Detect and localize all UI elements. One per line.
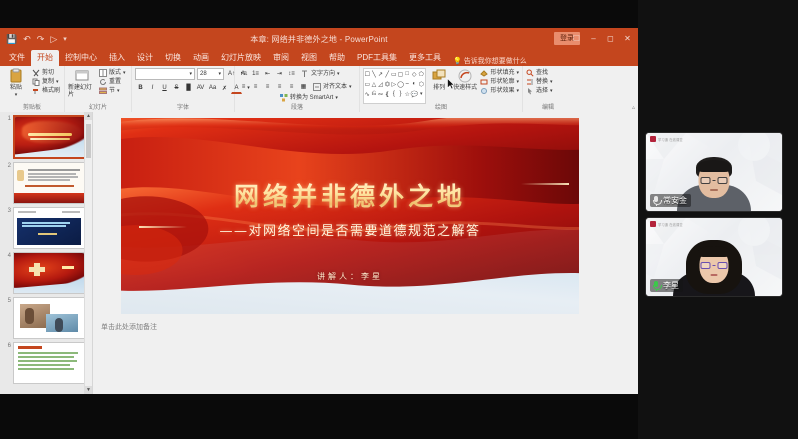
slide-title[interactable]: 网络并非德外之地 [121, 177, 579, 213]
bold-icon[interactable]: B [135, 83, 146, 94]
shape-effects-dropdown-icon[interactable]: ▾ [516, 87, 519, 95]
font-size-chevron-down-icon[interactable]: ▾ [218, 71, 221, 77]
thumbnail-number: 2 [2, 162, 13, 169]
shape-brace2-icon[interactable]: } [399, 91, 401, 97]
shape-fill-label: 形状填充 [490, 69, 514, 77]
reset-label: 重置 [109, 78, 121, 86]
undo-icon[interactable]: ↶ [23, 34, 31, 45]
line-spacing-icon[interactable]: ↕≡ [286, 68, 297, 79]
quick-styles-label: 快速样式 [453, 85, 477, 92]
shape-bracket-icon[interactable]: ❴ [385, 91, 390, 98]
shape-outline-button[interactable]: 形状轮廓 ▾ [480, 78, 519, 86]
participant-name-badge-1: 常安金 [650, 194, 691, 207]
shadow-icon[interactable]: █ [183, 83, 194, 94]
replace-icon [526, 78, 534, 86]
replace-dropdown-icon[interactable]: ▾ [550, 78, 553, 86]
tab-file[interactable]: 文件 [3, 50, 31, 66]
group-drawing-label: 绘图 [363, 104, 519, 112]
restore-button[interactable]: ◻ [602, 28, 619, 50]
change-case-icon[interactable]: Aa [207, 83, 218, 94]
thumbnail-slide-2[interactable] [13, 162, 85, 204]
minimize-button[interactable]: – [585, 28, 602, 50]
tab-help[interactable]: 帮助 [323, 50, 351, 66]
slide-subtitle[interactable]: ——对网络空间是否需要道德规范之解答 [121, 220, 579, 239]
ribbon-display-options-icon[interactable]: ☐ [568, 28, 585, 50]
tell-me-search[interactable]: 💡 告诉我你想要做什么 [447, 56, 527, 66]
font-size-value: 28 [200, 71, 207, 77]
glasses-icon [701, 177, 728, 184]
shape-effects-button[interactable]: 形状效果 ▾ [480, 87, 519, 95]
layout-button[interactable]: 版式 ▾ [99, 69, 126, 77]
copy-dropdown-icon[interactable]: ▾ [56, 78, 59, 86]
shape-roundrect-icon[interactable]: ▢ [398, 71, 404, 78]
group-slides-label: 幻灯片 [68, 104, 128, 112]
thumbnail-row-6[interactable]: 6 [0, 339, 92, 384]
quick-styles-button[interactable]: 快速样式 [453, 68, 478, 92]
shape-hexagon-icon[interactable]: ⬡ [419, 81, 424, 88]
participant-name-badge-2: 李星 [650, 279, 683, 292]
thumbnail-row-2[interactable]: 2 [0, 159, 92, 204]
search-icon [526, 69, 534, 77]
tell-me-label: 告诉我你想要做什么 [464, 56, 527, 66]
ribbon-body: 粘贴 ▾ 剪切 复制 ▾ [0, 66, 638, 113]
copy-label: 复制 [42, 78, 54, 86]
redo-icon[interactable]: ↷ [37, 34, 45, 45]
work-area: 1 2 [0, 112, 638, 394]
strikethrough-icon[interactable]: S [171, 83, 182, 94]
group-paragraph: •≡ 1≡ ⇤ ⇥ ↕≡ 文字方向 ▾ ≡ ≡ ≡ [235, 66, 360, 112]
shape-rect-icon[interactable]: ▭ [391, 71, 397, 78]
tab-design[interactable]: 设计 [131, 50, 159, 66]
group-clipboard-label: 剪贴板 [3, 104, 61, 112]
smartart-dropdown-icon[interactable]: ▾ [335, 94, 338, 102]
align-text-icon [313, 83, 321, 91]
shape-brace-icon[interactable]: { [393, 91, 395, 97]
shape-fill-dropdown-icon[interactable]: ▾ [516, 69, 519, 77]
new-slide-button[interactable]: 新建幻灯片 [68, 68, 96, 99]
current-slide[interactable]: 网络并非德外之地 ——对网络空间是否需要道德规范之解答 讲解人：李星 [121, 118, 579, 314]
clear-format-icon[interactable]: ✗ [219, 83, 230, 94]
shape-triangle-icon[interactable]: △ [372, 81, 377, 88]
align-text-dropdown-icon[interactable]: ▾ [349, 83, 352, 91]
group-font-label: 字体 [135, 104, 231, 112]
text-direction-button[interactable]: 文字方向 ▾ [301, 70, 340, 78]
customize-qat-icon[interactable]: ▾ [63, 35, 67, 43]
smartart-label: 转换为 SmartArt [290, 94, 333, 102]
new-slide-label: 新建幻灯片 [68, 85, 96, 99]
shape-fill-button[interactable]: 形状填充 ▾ [480, 69, 519, 77]
notes-placeholder[interactable]: 单击此处添加备注 [101, 322, 601, 332]
shape-callout-icon[interactable]: 💬 [410, 91, 417, 98]
increase-indent-icon[interactable]: ⇥ [274, 68, 285, 79]
window-controls[interactable]: ☐ – ◻ ✕ [568, 28, 636, 50]
shape-circle-icon[interactable]: ◯ [397, 81, 404, 88]
tab-control-center[interactable]: 控制中心 [59, 50, 103, 66]
tab-animations[interactable]: 动画 [187, 50, 215, 66]
layout-dropdown-icon[interactable]: ▾ [123, 69, 126, 77]
tab-pdf-tools[interactable]: PDF工具集 [351, 50, 403, 66]
thumbnail-row-1[interactable]: 1 [0, 112, 92, 159]
group-drawing: ☐ ╲ ↗ ╱ ▭ ▢ □ ◇ ⬠ ▭ △ ◿ ⏣ ▷ ◯ [360, 66, 523, 112]
tab-home[interactable]: 开始 [31, 50, 59, 66]
group-slides: 新建幻灯片 版式 ▾ 重置 [65, 66, 132, 112]
text-direction-dropdown-icon[interactable]: ▾ [337, 70, 340, 78]
scroll-down-icon[interactable]: ▼ [85, 386, 92, 394]
thumbnail-slide-1[interactable] [13, 115, 87, 159]
shapes-gallery[interactable]: ☐ ╲ ↗ ╱ ▭ ▢ □ ◇ ⬠ ▭ △ ◿ ⏣ ▷ ◯ [363, 68, 426, 104]
shape-line-icon[interactable]: ╲ [372, 71, 376, 78]
watermark-logo: 学习通 在线课堂 [650, 221, 683, 227]
section-dropdown-icon[interactable]: ▾ [117, 87, 120, 95]
decrease-indent-icon[interactable]: ⇤ [262, 68, 273, 79]
section-label: 节 [109, 87, 115, 95]
format-painter-label: 格式刷 [42, 87, 60, 95]
brand-icon [650, 221, 656, 227]
columns-icon[interactable]: ▦ [298, 81, 309, 92]
align-right-icon[interactable]: ≡ [262, 81, 273, 92]
shape-freeform-icon[interactable]: ⎌ [372, 91, 377, 98]
slide-presenter[interactable]: 讲解人：李星 [121, 271, 579, 282]
participant-name-2: 李星 [663, 280, 679, 291]
hair-front [698, 160, 731, 172]
section-icon [99, 87, 107, 95]
quick-access-toolbar[interactable]: 💾 ↶ ↷ ▷ ▾ [0, 34, 67, 45]
text-direction-icon [301, 70, 309, 78]
tab-transitions[interactable]: 切换 [159, 50, 187, 66]
bullets-icon[interactable]: •≡ [238, 68, 249, 79]
shape-effects-icon [480, 87, 488, 95]
shape-fill-icon [480, 69, 488, 77]
align-left-icon[interactable]: ≡ [238, 81, 249, 92]
arrange-label: 排列 [433, 85, 445, 92]
hair-front [699, 246, 730, 257]
thumbnail-row-4[interactable]: 4 [0, 249, 92, 294]
shape-pie-icon[interactable]: ◐ [412, 81, 416, 87]
font-name-combo[interactable]: ▾ [135, 68, 195, 80]
mouse-cursor [447, 78, 455, 90]
shape-connector-icon[interactable]: ╱ [385, 71, 389, 78]
find-label: 查找 [536, 69, 548, 77]
copy-button[interactable]: 复制 ▾ [32, 78, 60, 86]
numbering-icon[interactable]: 1≡ [250, 68, 261, 79]
tab-review[interactable]: 审阅 [267, 50, 295, 66]
group-paragraph-label: 段落 [238, 104, 356, 112]
group-clipboard: 粘贴 ▾ 剪切 复制 ▾ [0, 66, 65, 112]
participant-name-1: 常安金 [663, 195, 687, 206]
thumbnail-number: 3 [2, 207, 13, 214]
shape-effects-label: 形状效果 [490, 87, 514, 95]
italic-icon[interactable]: I [147, 83, 158, 94]
format-painter-icon [32, 87, 40, 95]
shapes-more-icon[interactable]: ▾ [420, 91, 423, 97]
thumbnail-slide-6[interactable] [13, 342, 85, 384]
glasses-icon [701, 262, 728, 269]
watermark-logo: 学习通 在线课堂 [650, 136, 683, 142]
tab-more-tools[interactable]: 更多工具 [403, 50, 447, 66]
shape-outline-dropdown-icon[interactable]: ▾ [516, 78, 519, 86]
screen: 💾 ↶ ↷ ▷ ▾ 本章: 网络并非德外之地 - PowerPoint 登录 ☐… [0, 0, 798, 439]
underline-icon[interactable]: U [159, 83, 170, 94]
quick-styles-icon [457, 68, 473, 84]
arrange-icon [431, 68, 447, 84]
tab-insert[interactable]: 插入 [103, 50, 131, 66]
shape-parallelogram-icon[interactable]: ▷ [392, 81, 397, 88]
thumbnail-number: 5 [2, 297, 13, 304]
paste-icon [8, 68, 24, 84]
shape-outline-label: 形状轮廓 [490, 78, 514, 86]
thumbnail-number: 6 [2, 342, 13, 349]
shape-textbox-icon[interactable]: ☐ [365, 71, 370, 78]
thumbnail-scrollbar[interactable]: ▲ ▼ [84, 112, 92, 394]
shape-outline-icon [480, 78, 488, 86]
video-panel: 学习通 在线课堂 常安金 [638, 0, 798, 439]
copy-icon [32, 78, 40, 86]
scrollbar-thumb[interactable] [86, 124, 91, 158]
tab-slideshow[interactable]: 幻灯片放映 [215, 50, 267, 66]
shape-rect2-icon[interactable]: ▭ [364, 81, 370, 88]
close-button[interactable]: ✕ [619, 28, 636, 50]
shape-arrow-icon[interactable]: ↗ [378, 71, 383, 78]
start-slideshow-icon[interactable]: ▷ [50, 34, 57, 45]
align-center-icon[interactable]: ≡ [250, 81, 261, 92]
shape-star-icon[interactable]: ☆ [404, 91, 409, 98]
replace-button[interactable]: 替换 ▾ [526, 78, 553, 86]
find-button[interactable]: 查找 [526, 69, 553, 77]
title-bar: 💾 ↶ ↷ ▷ ▾ 本章: 网络并非德外之地 - PowerPoint 登录 ☐… [0, 28, 638, 50]
mic-muted-icon [652, 196, 660, 206]
layout-label: 版式 [109, 69, 121, 77]
shape-curve-icon[interactable]: ∿ [365, 91, 370, 98]
thumbnail-slide-4[interactable] [13, 252, 85, 294]
text-direction-label: 文字方向 [311, 70, 335, 78]
watermark-label: 学习通 在线课堂 [658, 137, 683, 142]
new-slide-icon [74, 68, 90, 84]
cut-button[interactable]: 剪切 [32, 69, 60, 77]
thumbnail-number: 1 [2, 115, 13, 122]
align-text-button[interactable]: 对齐文本 ▾ [313, 83, 352, 91]
watermark-label: 学习通 在线课堂 [658, 222, 683, 227]
shape-arc-icon[interactable]: ⌢ [405, 81, 409, 88]
select-dropdown-icon[interactable]: ▾ [550, 87, 553, 95]
char-spacing-icon[interactable]: AV [195, 83, 206, 94]
smartart-button[interactable]: 转换为 SmartArt ▾ [280, 94, 338, 102]
paste-button[interactable]: 粘贴 ▾ [3, 68, 29, 99]
save-icon[interactable]: 💾 [6, 34, 17, 45]
select-label: 选择 [536, 87, 548, 95]
thumbnail-slide-5[interactable] [13, 297, 85, 339]
shape-pentagon-icon[interactable]: ⬠ [419, 71, 424, 78]
font-size-combo[interactable]: 28 ▾ [197, 68, 224, 80]
paste-label: 粘贴 [10, 85, 22, 92]
brand-icon [650, 136, 656, 142]
scroll-up-icon[interactable]: ▲ [85, 112, 92, 120]
shape-diamond-icon[interactable]: ◇ [412, 71, 417, 78]
video-tile-1[interactable]: 学习通 在线课堂 常安金 [646, 133, 782, 211]
window-title: 本章: 网络并非德外之地 - PowerPoint [0, 34, 638, 45]
thumbnail-slide-3[interactable] [13, 207, 85, 249]
paste-dropdown-icon[interactable]: ▾ [15, 92, 18, 99]
justify-icon[interactable]: ≡ [274, 81, 285, 92]
mic-active-icon [652, 281, 660, 291]
section-button[interactable]: 节 ▾ [99, 87, 126, 95]
font-name-chevron-down-icon[interactable]: ▾ [189, 71, 192, 77]
cut-label: 剪切 [42, 69, 54, 77]
shape-scribble-icon[interactable]: ∾ [378, 91, 383, 98]
reset-icon [99, 78, 107, 86]
select-button[interactable]: 选择 ▾ [526, 87, 553, 95]
powerpoint-window: 💾 ↶ ↷ ▷ ▾ 本章: 网络并非德外之地 - PowerPoint 登录 ☐… [0, 28, 638, 394]
tab-view[interactable]: 视图 [295, 50, 323, 66]
video-tile-2[interactable]: 学习通 在线课堂 李星 [646, 218, 782, 296]
thumbnail-row-5[interactable]: 5 [0, 294, 92, 339]
select-icon [526, 87, 534, 95]
participant-avatar [671, 240, 757, 296]
align-text-label: 对齐文本 [323, 83, 347, 91]
thumbnail-row-3[interactable]: 3 [0, 204, 92, 249]
slide-thumbnail-panel[interactable]: 1 2 [0, 112, 93, 394]
ribbon-tabs[interactable]: 文件 开始 控制中心 插入 设计 切换 动画 幻灯片放映 审阅 视图 帮助 PD… [0, 50, 638, 66]
group-editing-label: 编辑 [526, 104, 570, 112]
reset-button[interactable]: 重置 [99, 78, 126, 86]
group-editing: 查找 替换 ▾ 选择 ▾ 编辑 [523, 66, 573, 112]
format-painter-button[interactable]: 格式刷 [32, 87, 60, 95]
shape-square-icon[interactable]: □ [405, 71, 409, 77]
collapse-ribbon-icon[interactable]: ▵ [632, 104, 635, 111]
lightbulb-icon: 💡 [453, 57, 462, 65]
distribute-icon[interactable]: ≡ [286, 81, 297, 92]
layout-icon [99, 69, 107, 77]
slide-stage[interactable]: 网络并非德外之地 ——对网络空间是否需要道德规范之解答 讲解人：李星 单击此处添… [93, 112, 638, 394]
shape-trapezoid-icon[interactable]: ⏣ [385, 81, 390, 88]
cut-icon [32, 69, 40, 77]
thumbnail-number: 4 [2, 252, 13, 259]
smartart-icon [280, 94, 288, 102]
shape-rtriangle-icon[interactable]: ◿ [378, 81, 383, 88]
replace-label: 替换 [536, 78, 548, 86]
group-font: ▾ 28 ▾ A↑ A↓ B I U S █ [132, 66, 235, 112]
